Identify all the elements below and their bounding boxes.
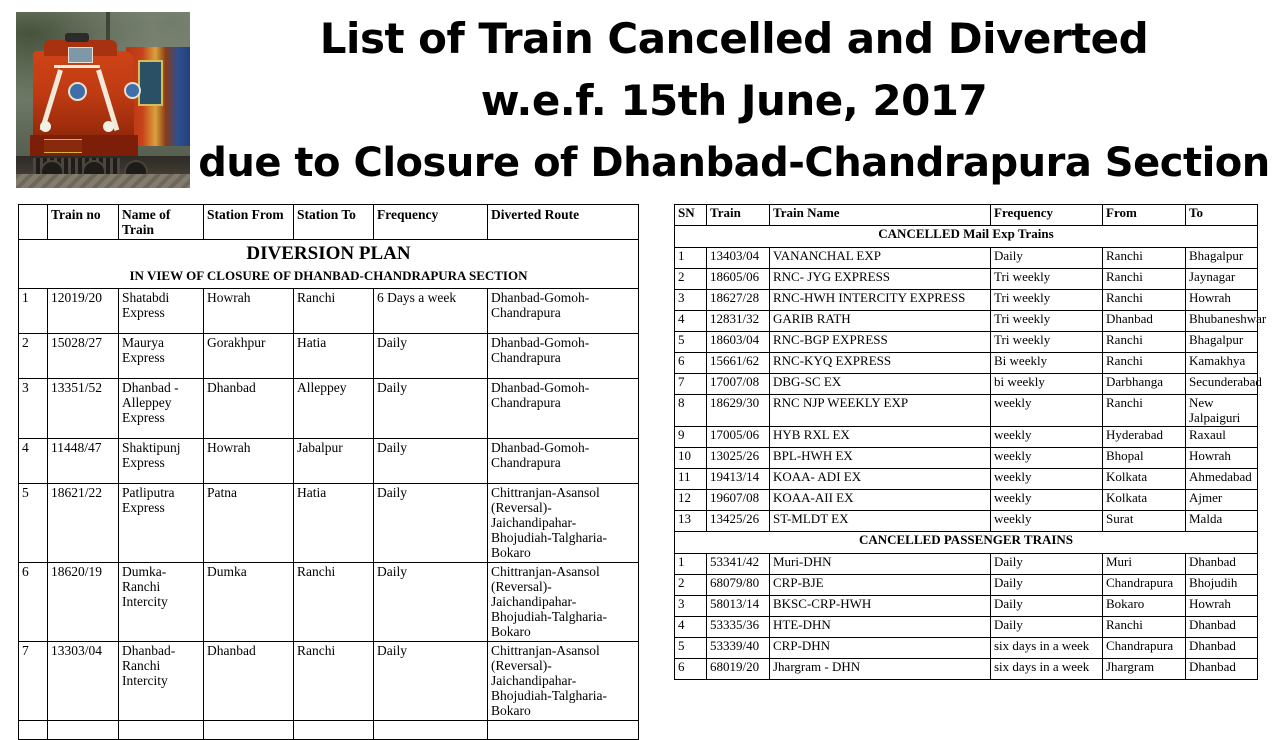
mail-cell-sn: 8 [675,395,707,427]
table-row: 713303/04Dhanbad-Ranchi IntercityDhanbad… [19,642,639,721]
diversion-blank-cell [19,721,48,740]
diversion-cell-to: Hatia [294,334,374,379]
diversion-cell-freq: Daily [374,642,488,721]
diversion-cell-route: Chittranjan-Asansol (Reversal)- Jaichand… [488,563,639,642]
passenger-cell-freq: Daily [991,596,1103,617]
diversion-cell-name: Patliputra Express [119,484,204,563]
passenger-cell-freq: six days in a week [991,638,1103,659]
diversion-cell-train-no: 12019/20 [48,289,119,334]
diversion-col-name: Name of Train [119,205,204,240]
mail-cell-name: KOAA-AII EX [770,490,991,511]
mail-cell-from: Bhopal [1103,448,1186,469]
passenger-cell-from: Bokaro [1103,596,1186,617]
diversion-col-from: Station From [204,205,294,240]
mail-cell-train: 13403/04 [707,248,770,269]
diversion-subbanner-row: IN VIEW OF CLOSURE OF DHANBAD-CHANDRAPUR… [19,267,639,289]
table-row: 553339/40CRP-DHNsix days in a weekChandr… [675,638,1258,659]
passenger-cell-sn: 6 [675,659,707,680]
table-row: 1013025/26BPL-HWH EXweeklyBhopalHowrah [675,448,1258,469]
mail-cell-train: 13425/26 [707,511,770,532]
mail-cell-from: Surat [1103,511,1186,532]
table-row: 218605/06RNC- JYG EXPRESSTri weeklyRanch… [675,269,1258,290]
mail-cell-to: Bhagalpur [1186,332,1258,353]
diversion-cell-freq: 6 Days a week [374,289,488,334]
cancelled-col-to: To [1186,205,1258,226]
photo-cab-window [68,47,93,63]
diversion-cell-route: Dhanbad-Gomoh-Chandrapura [488,379,639,439]
diversion-banner-sub: IN VIEW OF CLOSURE OF DHANBAD-CHANDRAPUR… [19,267,639,289]
mail-cell-sn: 10 [675,448,707,469]
table-row: 717007/08DBG-SC EXbi weeklyDarbhangaSecu… [675,374,1258,395]
cancelled-col-sn: SN [675,205,707,226]
table-row: 917005/06HYB RXL EXweeklyHyderabadRaxaul [675,427,1258,448]
diversion-cell-sn: 1 [19,289,48,334]
cancelled-passenger-banner-row: CANCELLED PASSENGER TRAINS [675,532,1258,554]
table-row: 618620/19Dumka-Ranchi IntercityDumkaRanc… [19,563,639,642]
diversion-cell-name: Shaktipunj Express [119,439,204,484]
diversion-cell-train-no: 18621/22 [48,484,119,563]
table-row: 411448/47Shaktipunj ExpressHowrahJabalpu… [19,439,639,484]
mail-cell-from: Ranchi [1103,332,1186,353]
diversion-cell-train-no: 18620/19 [48,563,119,642]
table-row: 615661/62RNC-KYQ EXPRESSBi weeklyRanchiK… [675,353,1258,374]
mail-cell-train: 13025/26 [707,448,770,469]
locomotive-photo [16,12,190,188]
diversion-cell-to: Ranchi [294,642,374,721]
table-row: 1313425/26ST-MLDT EXweeklySuratMalda [675,511,1258,532]
diversion-cell-train-no: 15028/27 [48,334,119,379]
cancelled-col-train: Train [707,205,770,226]
mail-cell-freq: weekly [991,395,1103,427]
diversion-cell-route: Chittranjan-Asansol (Reversal)- Jaichand… [488,642,639,721]
diversion-blank-cell [294,721,374,740]
mail-cell-train: 17007/08 [707,374,770,395]
mail-cell-to: Ahmedabad [1186,469,1258,490]
table-row: 412831/32GARIB RATHTri weeklyDhanbadBhub… [675,311,1258,332]
passenger-cell-name: Muri-DHN [770,554,991,575]
diversion-cell-freq: Daily [374,439,488,484]
mail-cell-sn: 11 [675,469,707,490]
diversion-cell-from: Gorakhpur [204,334,294,379]
mail-cell-from: Ranchi [1103,353,1186,374]
passenger-cell-train: 68019/20 [707,659,770,680]
diversion-cell-sn: 5 [19,484,48,563]
diversion-cell-to: Ranchi [294,563,374,642]
mail-cell-name: DBG-SC EX [770,374,991,395]
diversion-cell-from: Dhanbad [204,379,294,439]
mail-cell-sn: 6 [675,353,707,374]
diversion-cell-route: Dhanbad-Gomoh-Chandrapura [488,334,639,379]
diversion-cell-to: Alleppey [294,379,374,439]
diversion-cell-name: Shatabdi Express [119,289,204,334]
mail-cell-train: 15661/62 [707,353,770,374]
table-row: 113403/04VANANCHAL EXPDailyRanchiBhagalp… [675,248,1258,269]
diversion-cell-from: Howrah [204,289,294,334]
diversion-plan-table: DIVERSION PLAN IN VIEW OF CLOSURE OF DHA… [18,204,639,740]
table-row: 313351/52Dhanbad - Alleppey ExpressDhanb… [19,379,639,439]
diversion-cell-train-no: 13351/52 [48,379,119,439]
mail-cell-freq: weekly [991,448,1103,469]
mail-cell-from: Ranchi [1103,248,1186,269]
cancelled-col-name: Train Name [770,205,991,226]
mail-cell-from: Ranchi [1103,269,1186,290]
mail-cell-name: RNC- JYG EXPRESS [770,269,991,290]
mail-cell-freq: weekly [991,490,1103,511]
passenger-cell-name: Jhargram - DHN [770,659,991,680]
passenger-cell-name: CRP-BJE [770,575,991,596]
mail-cell-from: Kolkata [1103,469,1186,490]
mail-cell-from: Kolkata [1103,490,1186,511]
mail-cell-freq: Tri weekly [991,332,1103,353]
mail-cell-freq: Tri weekly [991,290,1103,311]
mail-cell-sn: 1 [675,248,707,269]
diversion-cell-from: Patna [204,484,294,563]
mail-cell-to: Kamakhya [1186,353,1258,374]
mail-cell-train: 18603/04 [707,332,770,353]
diversion-header-row: Train no Name of Train Station From Stat… [19,205,639,240]
mail-cell-to: Malda [1186,511,1258,532]
diversion-cell-to: Jabalpur [294,439,374,484]
mail-cell-sn: 4 [675,311,707,332]
cancelled-header-row: SN Train Train Name Frequency From To [675,205,1258,226]
diversion-cell-to: Ranchi [294,289,374,334]
diversion-blank-cell [374,721,488,740]
mail-cell-freq: Tri weekly [991,311,1103,332]
passenger-cell-to: Bhojudih [1186,575,1258,596]
passenger-cell-sn: 5 [675,638,707,659]
mail-cell-to: Ajmer [1186,490,1258,511]
table-row: 358013/14BKSC-CRP-HWHDailyBokaroHowrah [675,596,1258,617]
mail-cell-freq: weekly [991,427,1103,448]
mail-cell-train: 18605/06 [707,269,770,290]
page-header: List of Train Cancelled and Diverted w.e… [0,0,1281,198]
mail-cell-name: HYB RXL EX [770,427,991,448]
table-row: 1219607/08KOAA-AII EXweeklyKolkataAjmer [675,490,1258,511]
diversion-cell-freq: Daily [374,563,488,642]
passenger-cell-to: Dhanbad [1186,638,1258,659]
table-row: 668019/20Jhargram - DHNsix days in a wee… [675,659,1258,680]
mail-cell-name: RNC-HWH INTERCITY EXPRESS [770,290,991,311]
diversion-blank-cell [204,721,294,740]
passenger-cell-from: Chandrapura [1103,575,1186,596]
diversion-banner-row: DIVERSION PLAN [19,240,639,268]
table-row: 112019/20Shatabdi ExpressHowrahRanchi6 D… [19,289,639,334]
passenger-cell-to: Dhanbad [1186,659,1258,680]
diversion-col-route: Diverted Route [488,205,639,240]
mail-cell-to: Secunderabad [1186,374,1258,395]
passenger-cell-to: Howrah [1186,596,1258,617]
title-line-3: due to Closure of Dhanbad-Chandrapura Se… [194,132,1274,194]
diversion-cell-train-no: 11448/47 [48,439,119,484]
mail-cell-freq: Tri weekly [991,269,1103,290]
passenger-cell-freq: six days in a week [991,659,1103,680]
passenger-cell-name: CRP-DHN [770,638,991,659]
mail-cell-train: 19413/14 [707,469,770,490]
photo-number-plate [44,139,82,153]
mail-cell-from: Ranchi [1103,395,1186,427]
diversion-cell-name: Maurya Express [119,334,204,379]
photo-track-ballast [16,174,190,188]
photo-coach-window [138,60,163,106]
diversion-cell-train-no: 13303/04 [48,642,119,721]
mail-cell-to: Howrah [1186,448,1258,469]
diversion-banner-main: DIVERSION PLAN [19,240,639,268]
diversion-col-sn [19,205,48,240]
cancelled-passenger-body: 153341/42Muri-DHNDailyMuriDhanbad268079/… [675,554,1258,680]
mail-cell-sn: 3 [675,290,707,311]
mail-cell-train: 17005/06 [707,427,770,448]
mail-cell-name: BPL-HWH EX [770,448,991,469]
table-row: 818629/30RNC NJP WEEKLY EXPweeklyRanchiN… [675,395,1258,427]
mail-cell-to: Jaynagar [1186,269,1258,290]
diversion-cell-sn: 4 [19,439,48,484]
passenger-cell-train: 58013/14 [707,596,770,617]
passenger-cell-from: Ranchi [1103,617,1186,638]
passenger-cell-from: Chandrapura [1103,638,1186,659]
diversion-cell-name: Dumka-Ranchi Intercity [119,563,204,642]
table-row: 518603/04RNC-BGP EXPRESSTri weeklyRanchi… [675,332,1258,353]
diversion-cell-sn: 7 [19,642,48,721]
mail-cell-name: GARIB RATH [770,311,991,332]
cancelled-mail-body: 113403/04VANANCHAL EXPDailyRanchiBhagalp… [675,248,1258,532]
diversion-blank-row [19,721,639,740]
passenger-cell-train: 68079/80 [707,575,770,596]
passenger-cell-train: 53341/42 [707,554,770,575]
passenger-cell-name: BKSC-CRP-HWH [770,596,991,617]
diversion-cell-from: Dhanbad [204,642,294,721]
diversion-cell-name: Dhanbad - Alleppey Express [119,379,204,439]
passenger-cell-sn: 4 [675,617,707,638]
mail-cell-name: VANANCHAL EXP [770,248,991,269]
diversion-cell-route: Chittranjan-Asansol (Reversal)- Jaichand… [488,484,639,563]
diversion-cell-name: Dhanbad-Ranchi Intercity [119,642,204,721]
title-line-2: w.e.f. 15th June, 2017 [194,70,1274,132]
mail-cell-to: Raxaul [1186,427,1258,448]
table-row: 453335/36HTE-DHNDailyRanchiDhanbad [675,617,1258,638]
table-row: 153341/42Muri-DHNDailyMuriDhanbad [675,554,1258,575]
mail-cell-freq: weekly [991,469,1103,490]
diversion-cell-sn: 6 [19,563,48,642]
passenger-cell-from: Jhargram [1103,659,1186,680]
passenger-cell-sn: 2 [675,575,707,596]
passenger-cell-freq: Daily [991,617,1103,638]
cancelled-trains-table: CANCELLED Mail Exp Trains SN Train Train… [674,204,1258,680]
mail-cell-sn: 9 [675,427,707,448]
diversion-col-train-no: Train no [48,205,119,240]
mail-cell-to: Bhubaneshwar [1186,311,1258,332]
mail-cell-name: RNC-KYQ EXPRESS [770,353,991,374]
mail-cell-sn: 7 [675,374,707,395]
diversion-cell-freq: Daily [374,484,488,563]
mail-cell-from: Ranchi [1103,290,1186,311]
cancelled-col-freq: Frequency [991,205,1103,226]
passenger-cell-train: 53339/40 [707,638,770,659]
mail-cell-name: RNC NJP WEEKLY EXP [770,395,991,427]
passenger-cell-freq: Daily [991,575,1103,596]
diversion-cell-from: Howrah [204,439,294,484]
page-title: List of Train Cancelled and Diverted w.e… [194,8,1274,194]
mail-cell-train: 19607/08 [707,490,770,511]
diversion-cell-freq: Daily [374,334,488,379]
mail-cell-from: Darbhanga [1103,374,1186,395]
mail-cell-to: New Jalpaiguri [1186,395,1258,427]
mail-cell-from: Dhanbad [1103,311,1186,332]
mail-cell-train: 18629/30 [707,395,770,427]
mail-cell-freq: Bi weekly [991,353,1103,374]
mail-cell-from: Hyderabad [1103,427,1186,448]
diversion-table-body: 112019/20Shatabdi ExpressHowrahRanchi6 D… [19,289,639,740]
passenger-cell-from: Muri [1103,554,1186,575]
mail-cell-sn: 2 [675,269,707,290]
mail-cell-freq: bi weekly [991,374,1103,395]
diversion-cell-to: Hatia [294,484,374,563]
mail-cell-freq: weekly [991,511,1103,532]
diversion-cell-freq: Daily [374,379,488,439]
passenger-cell-name: HTE-DHN [770,617,991,638]
cancelled-col-from: From [1103,205,1186,226]
diversion-cell-sn: 2 [19,334,48,379]
mail-cell-to: Bhagalpur [1186,248,1258,269]
title-line-1: List of Train Cancelled and Diverted [194,8,1274,70]
photo-locomotive-vent [65,33,89,42]
mail-cell-train: 12831/32 [707,311,770,332]
passenger-cell-sn: 3 [675,596,707,617]
mail-cell-train: 18627/28 [707,290,770,311]
mail-cell-sn: 12 [675,490,707,511]
diversion-cell-sn: 3 [19,379,48,439]
table-row: 1119413/14KOAA- ADI EXweeklyKolkataAhmed… [675,469,1258,490]
mail-cell-name: RNC-BGP EXPRESS [770,332,991,353]
passenger-cell-freq: Daily [991,554,1103,575]
diversion-cell-from: Dumka [204,563,294,642]
cancelled-passenger-banner: CANCELLED PASSENGER TRAINS [675,532,1258,554]
passenger-cell-train: 53335/36 [707,617,770,638]
table-row: 518621/22Patliputra ExpressPatnaHatiaDai… [19,484,639,563]
diversion-blank-cell [48,721,119,740]
diversion-col-freq: Frequency [374,205,488,240]
table-row: 318627/28RNC-HWH INTERCITY EXPRESSTri we… [675,290,1258,311]
mail-cell-to: Howrah [1186,290,1258,311]
diversion-cell-route: Dhanbad-Gomoh-Chandrapura [488,439,639,484]
photo-livery-stripe [54,65,99,68]
mail-cell-name: ST-MLDT EX [770,511,991,532]
cancelled-mail-banner: CANCELLED Mail Exp Trains [675,226,1258,248]
mail-cell-freq: Daily [991,248,1103,269]
mail-cell-sn: 13 [675,511,707,532]
table-row: 268079/80CRP-BJEDailyChandrapuraBhojudih [675,575,1258,596]
cancelled-mail-banner-row: CANCELLED Mail Exp Trains [675,226,1258,248]
passenger-cell-to: Dhanbad [1186,554,1258,575]
diversion-blank-cell [119,721,204,740]
diversion-col-to: Station To [294,205,374,240]
passenger-cell-to: Dhanbad [1186,617,1258,638]
diversion-blank-cell [488,721,639,740]
table-row: 215028/27Maurya ExpressGorakhpurHatiaDai… [19,334,639,379]
diversion-cell-route: Dhanbad-Gomoh-Chandrapura [488,289,639,334]
mail-cell-sn: 5 [675,332,707,353]
mail-cell-name: KOAA- ADI EX [770,469,991,490]
passenger-cell-sn: 1 [675,554,707,575]
